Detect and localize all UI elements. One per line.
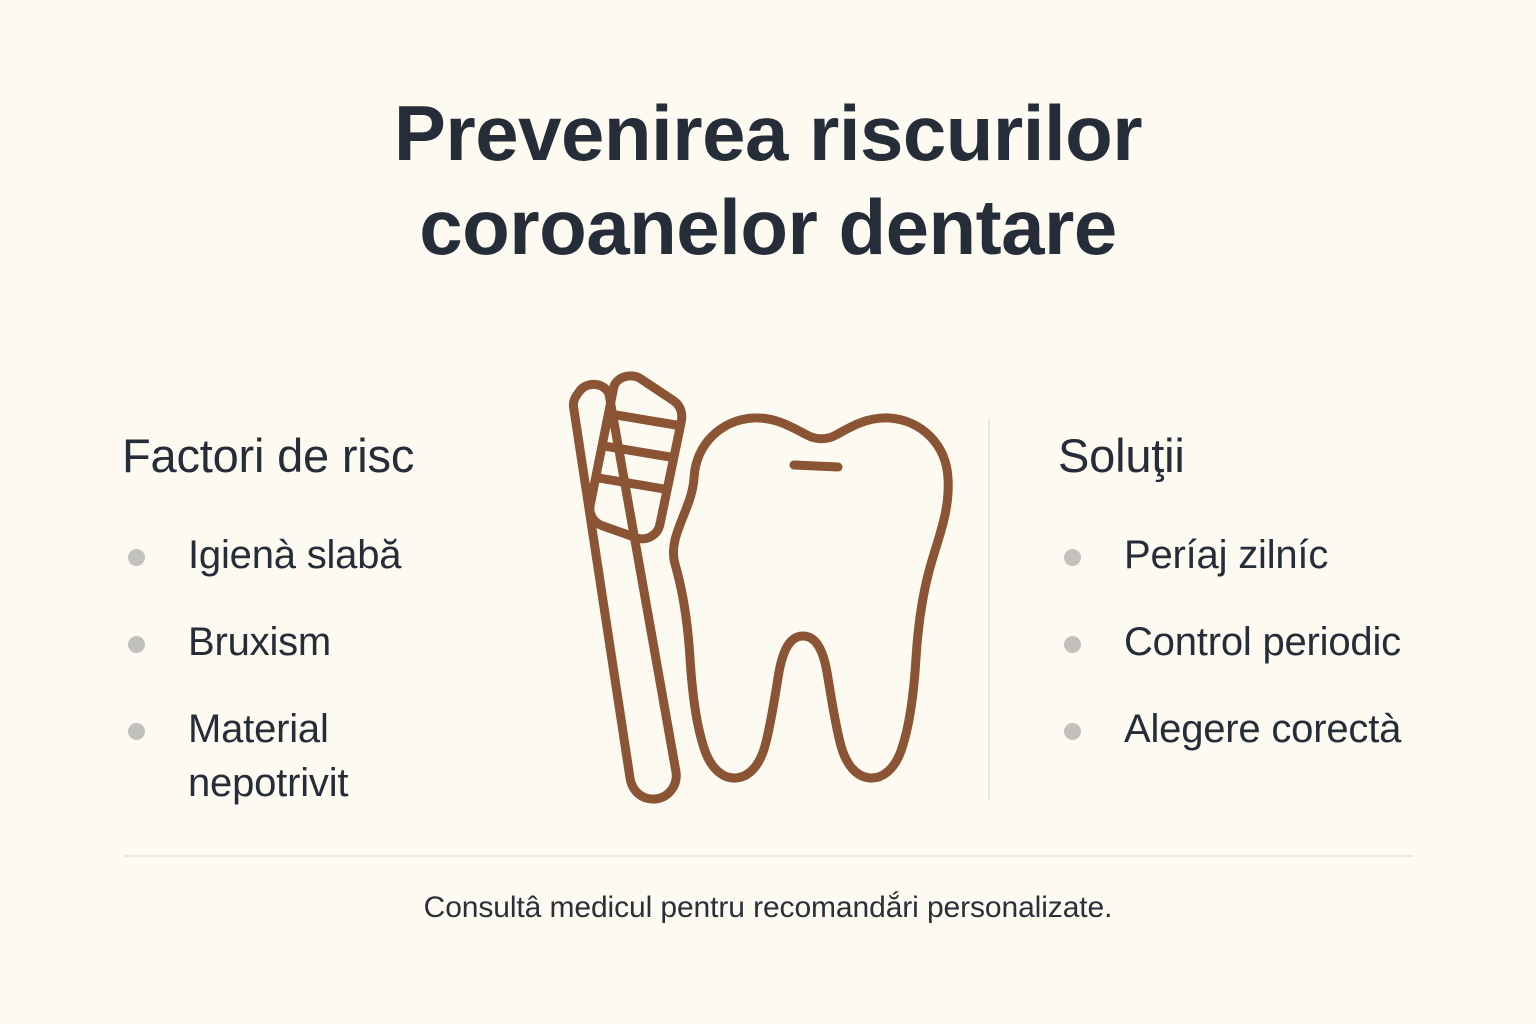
solutions-heading: Soluţii <box>1058 428 1478 484</box>
footer-divider <box>124 855 1413 857</box>
toothbrush-icon <box>573 376 681 799</box>
dental-illustration <box>548 368 968 808</box>
infographic-poster: Prevenirea riscurilor coroanelor dentare… <box>0 0 1536 1024</box>
bullet-dot-icon <box>1064 549 1081 566</box>
solutions-list: Períaj zilníc Control periodic Alegere c… <box>1058 528 1478 756</box>
bullet-dot-icon <box>1064 723 1081 740</box>
list-item: Control periodic <box>1058 615 1478 669</box>
list-item: Bruxism <box>122 615 542 669</box>
bullet-dot-icon <box>1064 636 1081 653</box>
page-title: Prevenirea riscurilor coroanelor dentare <box>0 86 1536 274</box>
bullet-dot-icon <box>128 636 145 653</box>
page-title-line-2: coroanelor dentare <box>0 180 1536 274</box>
tooth-icon <box>673 418 948 778</box>
list-item-label: Igienà slabă <box>188 533 401 577</box>
list-item-label: Alegere corectà <box>1124 707 1401 751</box>
solutions-column: Soluţii Períaj zilníc Control periodic A… <box>1058 428 1478 756</box>
bullet-dot-icon <box>128 723 145 740</box>
risk-factors-list: Igienà slabă Bruxism Material nepotrivit <box>122 528 542 810</box>
footer-note: Consultâ medicul pentru recomandắri pers… <box>0 888 1536 928</box>
list-item-label: Bruxism <box>188 620 331 664</box>
list-item: Igienà slabă <box>122 528 542 582</box>
list-item: Períaj zilníc <box>1058 528 1478 582</box>
list-item-label: Control periodic <box>1124 620 1401 664</box>
list-item-label: Períaj zilníc <box>1124 533 1328 577</box>
list-item: Alegere corectà <box>1058 702 1478 756</box>
column-divider <box>988 418 990 800</box>
list-item-label: Material nepotrivit <box>188 702 448 810</box>
risk-factors-heading: Factori de risc <box>122 428 542 484</box>
bullet-dot-icon <box>128 549 145 566</box>
list-item: Material nepotrivit <box>122 702 542 810</box>
page-title-line-1: Prevenirea riscurilor <box>0 86 1536 180</box>
risk-factors-column: Factori de risc Igienà slabă Bruxism Mat… <box>122 428 542 810</box>
